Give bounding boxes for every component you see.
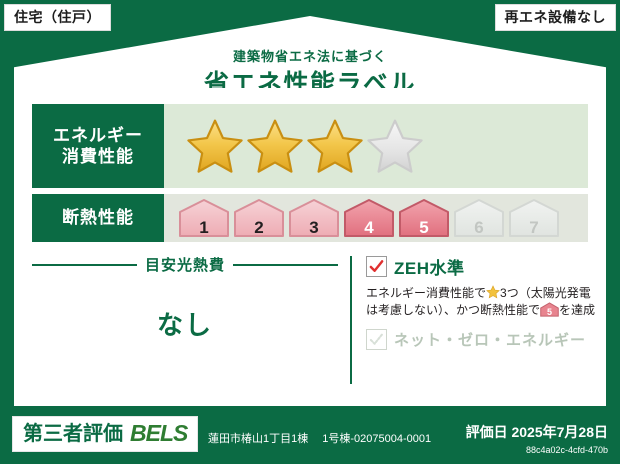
star-icon-filled <box>246 117 304 175</box>
energy-performance-label: 住宅（住戸） 再エネ設備なし 建築物省エネ法に基づく 省エネ性能ラベル エネルギ… <box>0 0 620 464</box>
insulation-badge-icon: 5 <box>540 302 559 317</box>
footer: 第三者評価 BELS 蓮田市椿山1丁目1棟1号棟-02075004-0001 評… <box>0 406 620 464</box>
insulation-level-badge: 7 <box>508 198 560 238</box>
evaluation-date-value: 2025年7月28日 <box>511 424 608 440</box>
address-text: 蓮田市椿山1丁目1棟 <box>208 433 308 445</box>
insulation-level-number: 7 <box>508 219 560 236</box>
insulation-level-number: 2 <box>233 219 285 236</box>
insulation-level-scale: 1234567 <box>178 198 560 238</box>
zeh-checkbox <box>366 256 387 277</box>
insulation-badge-number: 5 <box>540 308 559 317</box>
vertical-divider <box>350 256 352 384</box>
zeh-block: ZEH水準 エネルギー消費性能で3つ（太陽光発電 は考慮しない）、かつ断熱性能で… <box>366 252 606 350</box>
insulation-level-badge: 5 <box>398 198 450 238</box>
insulation-performance-label: 断熱性能 <box>32 194 164 242</box>
utility-cost-value: なし <box>32 305 338 342</box>
evaluation-date-label: 評価日 <box>466 424 508 440</box>
lower-section: 目安光熱費 なし ZEH水準 エネルギー消費性能で3つ（太陽光発電 <box>32 252 588 390</box>
star-icon-empty <box>366 117 424 175</box>
bels-en-text: BELS <box>130 422 187 445</box>
energy-label-line2: 消費性能 <box>62 147 134 166</box>
zeh-heading: ZEH水準 <box>366 254 606 279</box>
insulation-level-badge: 6 <box>453 198 505 238</box>
insulation-level-number: 5 <box>398 219 450 236</box>
star-icon-filled <box>186 117 244 175</box>
check-icon <box>369 259 384 274</box>
star-icon-filled <box>306 117 364 175</box>
insulation-performance-value: 1234567 <box>164 194 588 242</box>
heading-rule-left <box>32 264 137 266</box>
insulation-level-number: 6 <box>453 219 505 236</box>
energy-label-line1: エネルギー <box>53 126 143 145</box>
insulation-performance-row: 断熱性能 1234567 <box>32 194 588 242</box>
evaluation-date: 評価日 2025年7月28日 <box>466 422 608 442</box>
label-card: エネルギー 消費性能 断熱性能 1234567 目安光熱費 <box>14 88 606 406</box>
building-type-tag: 住宅（住戸） <box>4 4 111 31</box>
property-address: 蓮田市椿山1丁目1棟1号棟-02075004-0001 <box>208 430 431 446</box>
star-icon <box>486 285 500 299</box>
insulation-level-badge: 4 <box>343 198 395 238</box>
zeh-desc-part4: を達成 <box>559 303 595 317</box>
insulation-level-badge: 2 <box>233 198 285 238</box>
header-subtitle: 建築物省エネ法に基づく <box>14 46 606 65</box>
zeh-title: ZEH水準 <box>394 254 465 279</box>
insulation-level-badge: 1 <box>178 198 230 238</box>
zeh-desc-part1: エネルギー消費性能で <box>366 286 486 300</box>
bels-logo: 第三者評価 BELS <box>12 416 198 452</box>
unit-number: 1号棟-02075004-0001 <box>322 433 431 445</box>
zeh-description: エネルギー消費性能で3つ（太陽光発電 は考慮しない）、かつ断熱性能で5を達成 <box>366 285 606 320</box>
utility-cost-block: 目安光熱費 なし <box>32 252 338 390</box>
check-icon-disabled <box>369 332 384 347</box>
insulation-level-number: 4 <box>343 219 395 236</box>
zeh-desc-part3: は考慮しない）、かつ断熱性能で <box>366 303 540 317</box>
net-zero-energy-row: ネット・ゼロ・エネルギー <box>366 329 606 350</box>
energy-performance-value <box>164 104 588 188</box>
energy-performance-row: エネルギー 消費性能 <box>32 104 588 188</box>
net-zero-checkbox <box>366 329 387 350</box>
renewable-equipment-tag: 再エネ設備なし <box>495 4 617 31</box>
energy-performance-label: エネルギー 消費性能 <box>32 104 164 188</box>
heading-rule-right <box>233 264 338 266</box>
utility-cost-heading: 目安光熱費 <box>32 254 338 275</box>
insulation-level-number: 1 <box>178 219 230 236</box>
net-zero-label: ネット・ゼロ・エネルギー <box>394 329 586 350</box>
insulation-level-number: 3 <box>288 219 340 236</box>
utility-cost-heading-text: 目安光熱費 <box>145 254 225 275</box>
evaluation-info: 評価日 2025年7月28日 88c4a02c-4cfd-470b <box>466 422 608 455</box>
insulation-level-badge: 3 <box>288 198 340 238</box>
evaluation-hash: 88c4a02c-4cfd-470b <box>466 445 608 455</box>
star-rating <box>186 117 424 175</box>
bels-jp-text: 第三者評価 <box>23 424 123 444</box>
zeh-desc-part2: 3つ（太陽光発電 <box>500 286 591 300</box>
